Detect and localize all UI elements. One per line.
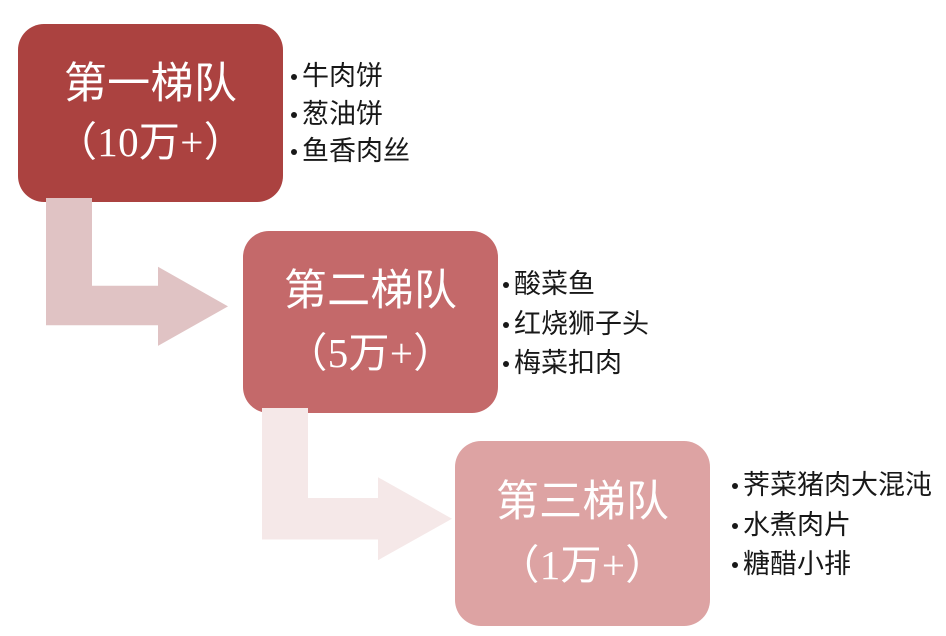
tier-3-item-3: 糖醋小排 bbox=[743, 545, 851, 585]
bullet-dot-icon bbox=[732, 562, 738, 568]
bullet-dot-icon bbox=[732, 483, 738, 489]
connector-arrow-1 bbox=[46, 198, 228, 346]
tier-2-item-2: 红烧狮子头 bbox=[514, 305, 649, 345]
elbow-arrow-shape-2 bbox=[262, 408, 452, 560]
list-item: 红烧狮子头 bbox=[503, 305, 649, 345]
tier-2-item-3: 梅菜扣肉 bbox=[514, 344, 622, 384]
bullet-dot-icon bbox=[732, 523, 738, 529]
bullet-dot-icon bbox=[291, 74, 297, 80]
bullet-dot-icon bbox=[503, 282, 509, 288]
tier-2-item-1: 酸菜鱼 bbox=[514, 265, 595, 305]
tier-1-item-3: 鱼香肉丝 bbox=[302, 133, 410, 171]
tier-1-item-1: 牛肉饼 bbox=[302, 58, 383, 96]
tier-box-3[interactable]: 第三梯队 （1万+） bbox=[455, 441, 710, 626]
bullet-dot-icon bbox=[503, 322, 509, 328]
connector-arrow-2 bbox=[262, 408, 452, 560]
list-item: 水煮肉片 bbox=[732, 506, 932, 546]
list-item: 葱油饼 bbox=[291, 96, 410, 134]
list-item: 鱼香肉丝 bbox=[291, 133, 410, 171]
tier-box-2[interactable]: 第二梯队 （5万+） bbox=[243, 231, 498, 413]
tier-2-item-list: 酸菜鱼 红烧狮子头 梅菜扣肉 bbox=[503, 265, 649, 384]
tier-3-item-list: 荠菜猪肉大混沌 水煮肉片 糖醋小排 bbox=[732, 466, 932, 585]
tier-1-count: （10万+） bbox=[56, 115, 245, 169]
elbow-arrow-shape-1 bbox=[46, 198, 228, 346]
list-item: 牛肉饼 bbox=[291, 58, 410, 96]
tier-1-item-2: 葱油饼 bbox=[302, 96, 383, 134]
list-item: 梅菜扣肉 bbox=[503, 344, 649, 384]
bullet-dot-icon bbox=[503, 361, 509, 367]
diagram-canvas: 第一梯队 （10万+） 牛肉饼 葱油饼 鱼香肉丝 第二梯队 （5万+） 酸菜鱼 bbox=[0, 0, 946, 636]
tier-3-item-1: 荠菜猪肉大混沌 bbox=[743, 466, 932, 506]
list-item: 糖醋小排 bbox=[732, 545, 932, 585]
bullet-dot-icon bbox=[291, 149, 297, 155]
tier-3-title: 第三梯队 bbox=[496, 475, 669, 532]
bullet-dot-icon bbox=[291, 112, 297, 118]
tier-box-1[interactable]: 第一梯队 （10万+） bbox=[18, 24, 283, 202]
tier-2-count: （5万+） bbox=[286, 326, 454, 380]
tier-3-item-2: 水煮肉片 bbox=[743, 506, 851, 546]
tier-3-count: （1万+） bbox=[498, 538, 666, 592]
tier-1-title: 第一梯队 bbox=[64, 57, 237, 114]
list-item: 荠菜猪肉大混沌 bbox=[732, 466, 932, 506]
list-item: 酸菜鱼 bbox=[503, 265, 649, 305]
tier-2-title: 第二梯队 bbox=[284, 264, 457, 321]
tier-1-item-list: 牛肉饼 葱油饼 鱼香肉丝 bbox=[291, 58, 410, 171]
